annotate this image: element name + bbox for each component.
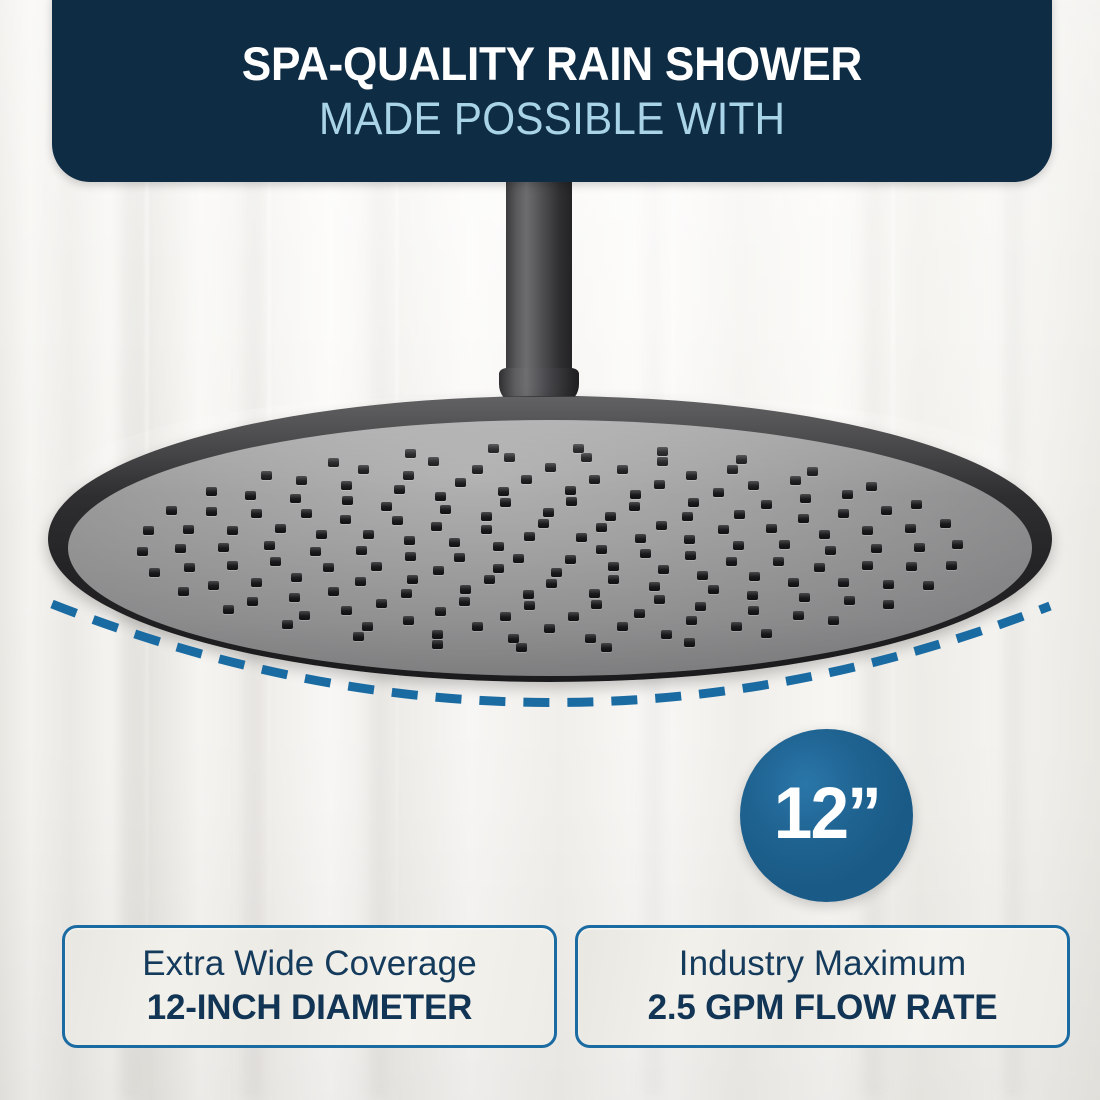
feature-box-row: Extra Wide Coverage 12-INCH DIAMETER Ind… [62, 925, 1070, 1048]
feature-box-coverage: Extra Wide Coverage 12-INCH DIAMETER [62, 925, 557, 1048]
banner-subheadline: MADE POSSIBLE WITH [319, 95, 785, 142]
dashed-arc-path [52, 604, 1050, 703]
banner-headline: SPA-QUALITY RAIN SHOWER [242, 40, 862, 88]
feature-flow-value: 2.5 GPM FLOW RATE [648, 989, 998, 1026]
diameter-badge-label: 12” [773, 772, 879, 855]
feature-flow-title: Industry Maximum [679, 945, 967, 982]
diameter-badge: 12” [740, 729, 913, 902]
feature-coverage-title: Extra Wide Coverage [142, 945, 477, 982]
feature-coverage-value: 12-INCH DIAMETER [147, 989, 472, 1026]
header-banner: SPA-QUALITY RAIN SHOWER MADE POSSIBLE WI… [52, 0, 1052, 182]
feature-box-flow-rate: Industry Maximum 2.5 GPM FLOW RATE [575, 925, 1070, 1048]
